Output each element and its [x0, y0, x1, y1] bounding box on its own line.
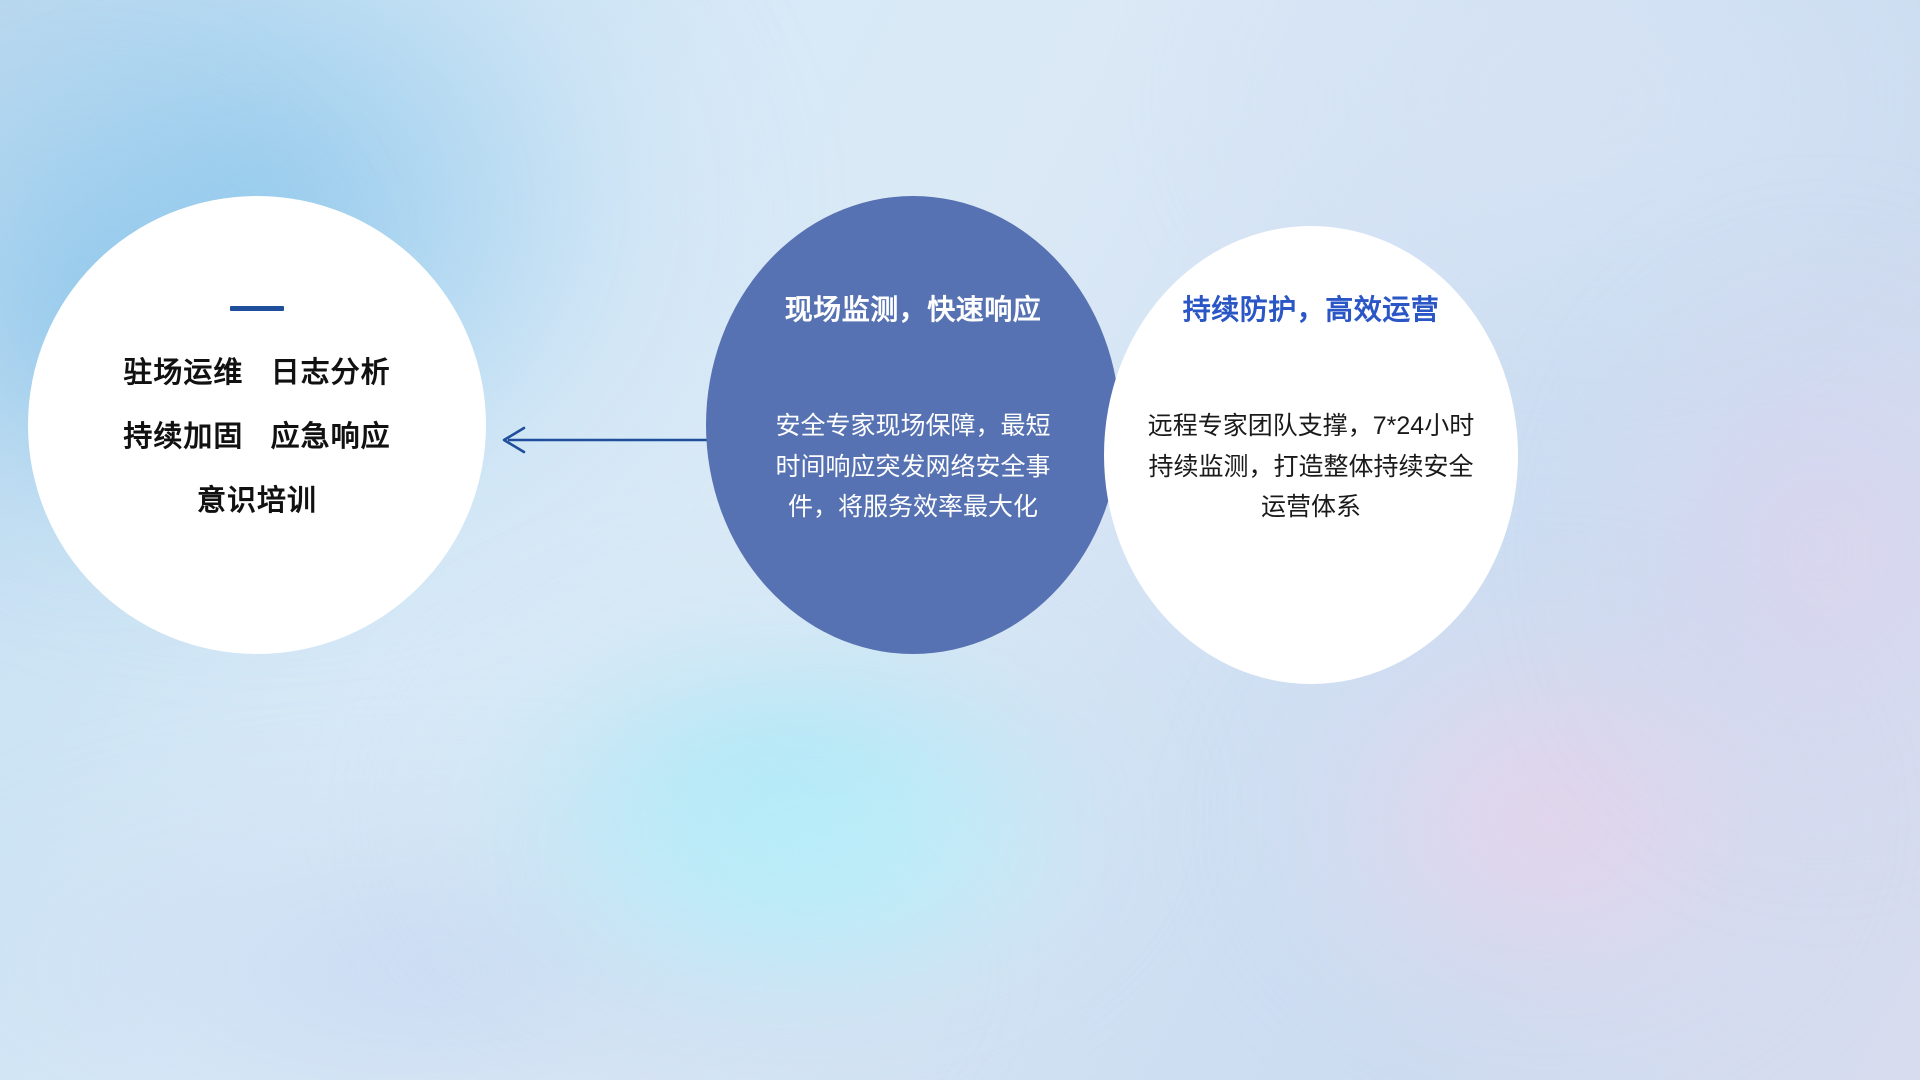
- background-glow-cyan-core: [540, 700, 1100, 1000]
- left-circle-line-2: 持续加固 应急响应: [123, 423, 390, 452]
- background-glow-pink-right: [1560, 240, 1920, 860]
- left-circle-line-1: 驻场运维 日志分析: [123, 359, 390, 388]
- divider-dash-icon: [230, 306, 284, 311]
- center-circle-body: 安全专家现场保障，最短时间响应突发网络安全事件，将服务效率最大化: [768, 406, 1058, 528]
- center-circle-title: 现场监测，快速响应: [785, 288, 1042, 328]
- right-circle-title: 持续防护，高效运营: [1183, 288, 1440, 328]
- right-circle-body: 远程专家团队支撑，7*24小时持续监测，打造整体持续安全运营体系: [1146, 406, 1476, 528]
- right-circle-panel: 持续防护，高效运营 远程专家团队支撑，7*24小时持续监测，打造整体持续安全运营…: [1104, 226, 1518, 684]
- slide-canvas: 驻场运维 日志分析 持续加固 应急响应 意识培训 现场监测，快速响应 安全专家现…: [0, 0, 1920, 1080]
- connector-arrow: [480, 410, 740, 470]
- left-circle-line-3: 意识培训: [197, 487, 317, 516]
- center-circle-panel: 现场监测，快速响应 安全专家现场保障，最短时间响应突发网络安全事件，将服务效率最…: [706, 196, 1120, 654]
- left-circle-panel: 驻场运维 日志分析 持续加固 应急响应 意识培训: [28, 196, 486, 654]
